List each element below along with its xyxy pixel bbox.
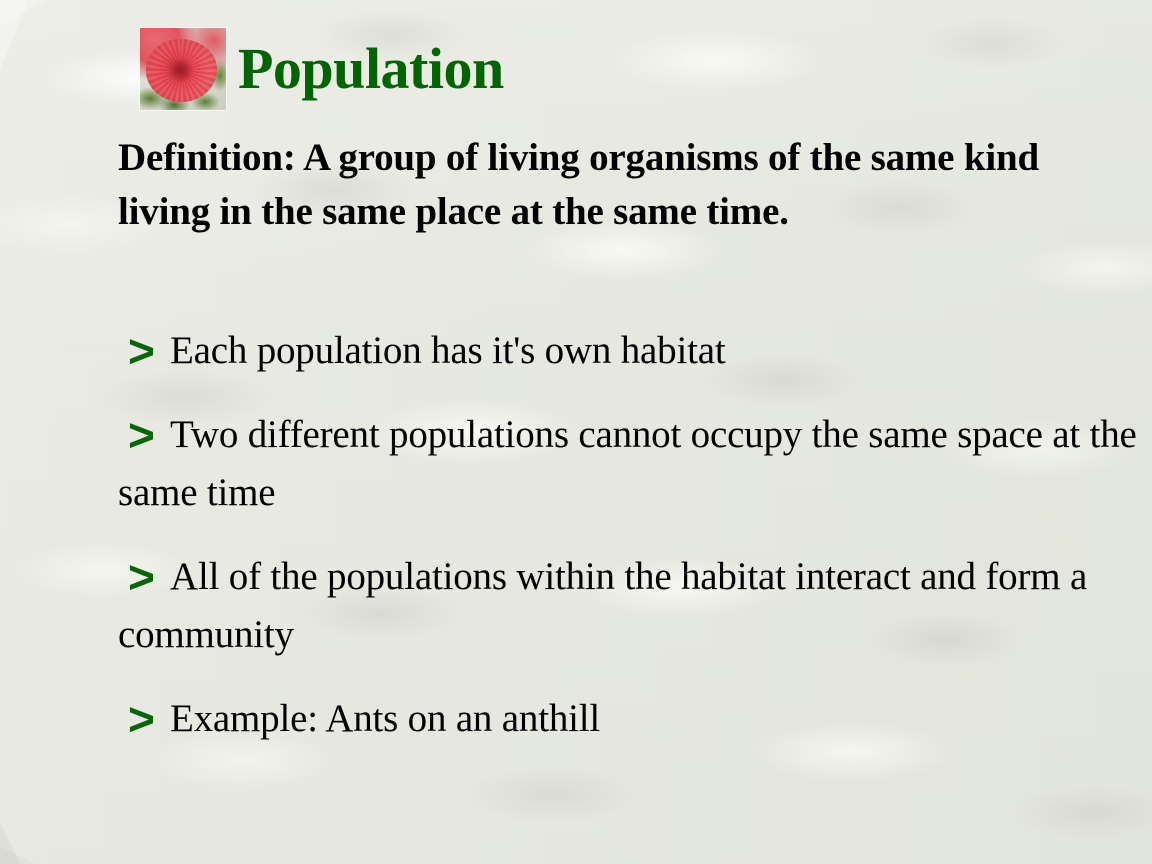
- page-title: Population: [238, 40, 504, 98]
- list-item: > All of the populations within the habi…: [118, 548, 1152, 664]
- list-item-label: Each population has it's own habitat: [170, 329, 725, 372]
- list-item-label: Example: Ants on an anthill: [170, 697, 600, 740]
- list-item-label: All of the populations within the habita…: [118, 555, 1087, 656]
- list-item: > Each population has it's own habitat: [118, 322, 1152, 380]
- chevron-right-bullet-icon: >: [128, 548, 174, 606]
- chevron-right-bullet-icon: >: [128, 406, 174, 464]
- list-item: > Two different populations cannot occup…: [118, 406, 1152, 522]
- list-item: > Example: Ants on an anthill: [118, 690, 1152, 748]
- list-item-label: Two different populations cannot occupy …: [118, 413, 1137, 514]
- bullet-list: > Each population has it's own habitat >…: [118, 322, 1152, 748]
- slide-canvas: Population Definition: A group of living…: [0, 0, 1152, 864]
- slide-title-row: Population: [140, 28, 504, 110]
- flower-bloom: [146, 39, 217, 101]
- chevron-right-bullet-icon: >: [128, 322, 174, 380]
- definition-paragraph: Definition: A group of living organisms …: [118, 131, 1078, 239]
- chevron-right-bullet-icon: >: [128, 690, 174, 748]
- carnation-flower-image: [140, 28, 226, 110]
